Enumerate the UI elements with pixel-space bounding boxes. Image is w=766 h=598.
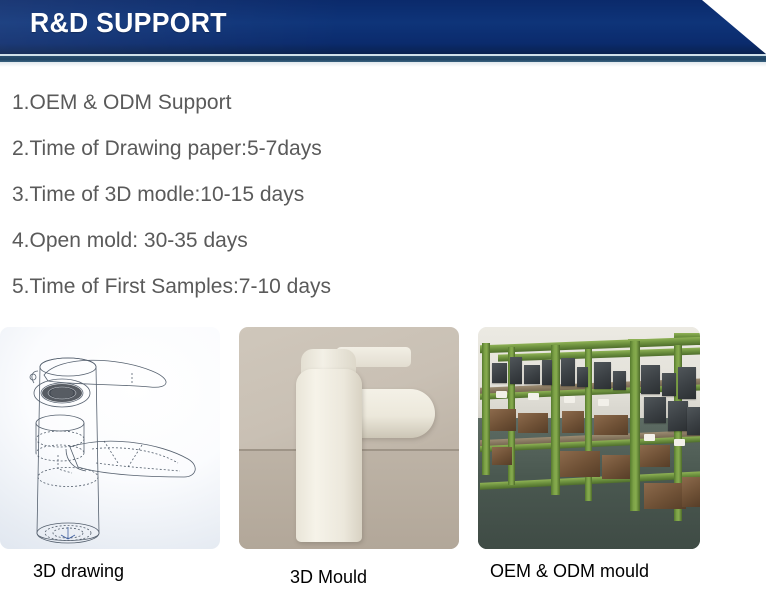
page-title: R&D SUPPORT xyxy=(30,7,227,39)
cad-drawing-background xyxy=(0,327,220,549)
mould-block xyxy=(687,407,700,435)
mould-block xyxy=(561,358,575,386)
gallery-caption: 3D drawing xyxy=(33,561,124,582)
shelf-label xyxy=(528,393,539,400)
shelf-label xyxy=(644,434,655,441)
page-header: R&D SUPPORT xyxy=(0,0,766,54)
gallery-image-3d-drawing xyxy=(0,327,220,549)
rd-support-list: 1.OEM & ODM Support 2.Time of Drawing pa… xyxy=(12,80,532,310)
tooling-crate xyxy=(594,415,628,435)
tooling-crate xyxy=(490,409,516,431)
mould-block xyxy=(492,363,507,383)
mould-block xyxy=(524,365,540,384)
mould-block xyxy=(510,357,522,384)
tooling-crate xyxy=(640,445,670,467)
warehouse-photo-background xyxy=(478,327,700,549)
gallery-image-oem-odm-mould xyxy=(478,327,700,549)
shelf-label xyxy=(564,396,575,403)
mould-block xyxy=(613,371,626,390)
tooling-crate xyxy=(562,411,584,433)
faucet-body xyxy=(296,369,362,542)
header-divider-fade xyxy=(0,62,766,67)
tooling-crate xyxy=(492,447,512,465)
mould-block xyxy=(594,362,611,389)
gallery-caption: 3D Mould xyxy=(290,567,367,588)
shelf-label xyxy=(598,399,609,406)
mould-block xyxy=(644,397,666,423)
tooling-crate xyxy=(518,413,548,433)
gallery-caption: OEM & ODM mould xyxy=(490,561,649,582)
gallery-image-3d-mould xyxy=(239,327,459,549)
rack-post xyxy=(630,341,640,511)
mould-photo-background xyxy=(239,327,459,549)
list-item: 2.Time of Drawing paper:5-7days xyxy=(12,126,532,172)
list-item: 5.Time of First Samples:7-10 days xyxy=(12,264,532,310)
mould-block xyxy=(641,365,660,394)
shelf-label xyxy=(674,439,685,446)
mould-block xyxy=(577,367,588,387)
gallery-strip xyxy=(0,327,766,549)
tooling-crate xyxy=(682,477,700,507)
tooling-crate xyxy=(644,483,686,509)
mould-block xyxy=(662,373,676,396)
rack-post xyxy=(482,343,490,475)
list-item: 3.Time of 3D modle:10-15 days xyxy=(12,172,532,218)
rack-post xyxy=(551,345,560,495)
mould-block xyxy=(678,367,696,399)
faucet-wireframe-icon xyxy=(0,327,220,549)
list-item: 4.Open mold: 30-35 days xyxy=(12,218,532,264)
list-item: 1.OEM & ODM Support xyxy=(12,80,532,126)
mould-block xyxy=(542,360,552,385)
tooling-crate xyxy=(560,451,600,477)
mould-block xyxy=(668,401,688,431)
tooling-crate xyxy=(602,455,630,479)
shelf-label xyxy=(496,391,507,398)
